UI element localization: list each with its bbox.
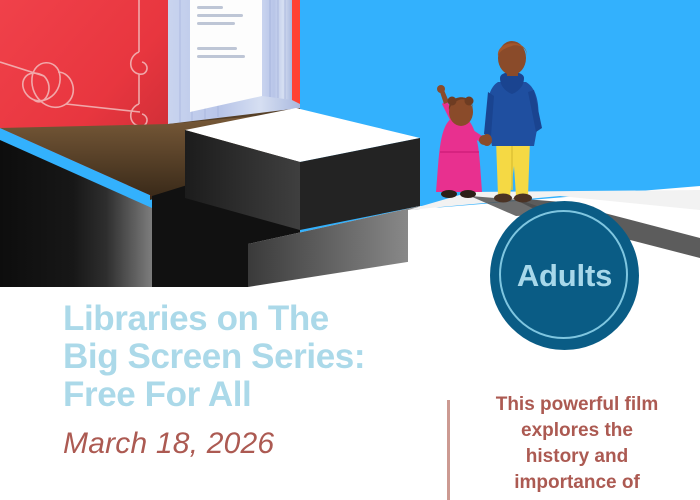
child-shoe-right bbox=[460, 190, 476, 198]
event-poster: Adults Libraries on The Big Screen Serie… bbox=[0, 0, 700, 500]
child-hair-bun-right bbox=[465, 97, 474, 106]
book-cover-edge bbox=[292, 0, 300, 104]
audience-badge-label: Adults bbox=[490, 201, 639, 350]
event-date: March 18, 2026 bbox=[63, 426, 423, 462]
title-block: Libraries on The Big Screen Series: Free… bbox=[63, 300, 423, 462]
child-pointing-hand bbox=[437, 85, 445, 93]
book-page-fan-right bbox=[262, 0, 292, 100]
event-title: Libraries on The Big Screen Series: Free… bbox=[63, 300, 423, 414]
vertical-divider bbox=[447, 400, 450, 500]
child-shoe-left bbox=[441, 190, 457, 198]
event-description: This powerful film explores the history … bbox=[472, 392, 682, 496]
child-hair-bun-left bbox=[448, 97, 457, 106]
child-hand bbox=[479, 135, 489, 145]
audience-badge[interactable]: Adults bbox=[490, 201, 639, 350]
